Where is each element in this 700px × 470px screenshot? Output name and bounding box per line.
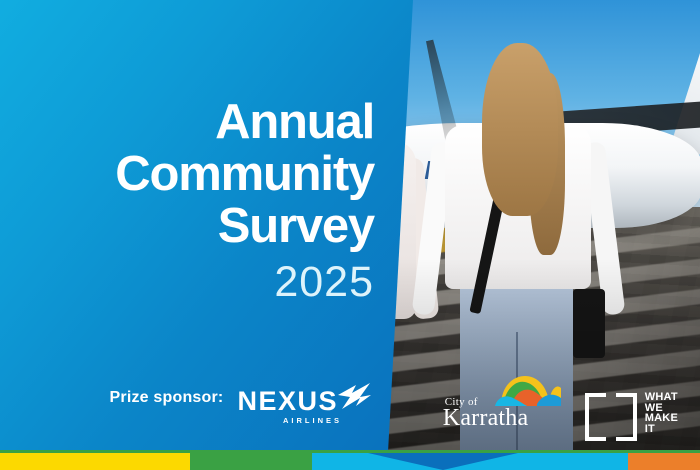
annual-community-survey-poster: NEXUS Ann [0, 0, 700, 470]
bottom-color-strip [0, 453, 700, 470]
title-line-1: Annual [0, 96, 374, 148]
wwmi-line-1: WHAT [645, 392, 678, 403]
strip-chevron-darkblue [368, 453, 518, 470]
title-line-2: Community [0, 148, 374, 200]
title-line-3: Survey [0, 200, 374, 252]
strip-segment-orange [628, 453, 700, 470]
page-title: Annual Community Survey 2025 [0, 96, 374, 304]
nexus-bird-icon [336, 382, 372, 412]
prize-sponsor-label: Prize sponsor: [110, 389, 224, 407]
nexus-wordmark: NEXUS [237, 388, 338, 414]
partner-logos: City of Karratha WHAT WE MAKE IT [443, 392, 678, 434]
karratha-arch-icon [491, 374, 563, 408]
what-we-make-it-logo: WHAT WE MAKE IT [585, 392, 678, 434]
square-brackets-icon [585, 393, 637, 433]
strip-segment-lightblue [312, 453, 628, 470]
city-of-karratha-logo: City of Karratha [443, 396, 563, 430]
nexus-airlines-logo: NEXUS AIRLINES [237, 382, 372, 414]
what-we-make-it-text: WHAT WE MAKE IT [645, 392, 678, 434]
wwmi-line-4: IT [645, 424, 678, 435]
strip-segment-yellow [0, 453, 190, 470]
title-year: 2025 [0, 260, 374, 304]
strip-segment-green [190, 453, 312, 470]
karratha-label: Karratha [443, 406, 529, 430]
nexus-airlines-subtext: AIRLINES [283, 416, 342, 425]
prize-sponsor-row: Prize sponsor: NEXUS AIRLINES [0, 382, 372, 414]
wwmi-line-3: MAKE [645, 413, 678, 424]
